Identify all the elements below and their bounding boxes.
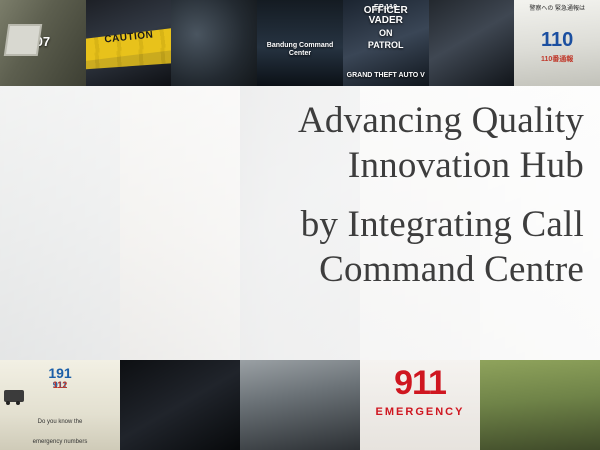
presentation-slide: 07 CAUTION Bandung Command Center EP.110… — [0, 0, 600, 450]
title-line-4: Command Centre — [164, 247, 584, 292]
title-spacer — [164, 188, 584, 202]
officer-vader-on-patrol-photo: EP.110 OFFICER VADER ON PATROL GRAND THE… — [343, 0, 429, 86]
title-band: Advancing Quality Innovation Hub by Inte… — [0, 86, 600, 360]
title-line-2: Innovation Hub — [164, 143, 584, 188]
episode-badge: EP.110 — [343, 4, 429, 11]
police-vehicle-street-photo — [429, 0, 515, 86]
emergency-number-191: 191 — [0, 366, 120, 380]
roadside-accident-photo: 07 — [0, 0, 86, 86]
911-emergency-graphic: 911 EMERGENCY — [360, 360, 480, 450]
photo-caption-gta: GRAND THEFT AUTO V — [343, 72, 429, 80]
title-line-3: by Integrating Call — [164, 202, 584, 247]
page-title: Advancing Quality Innovation Hub by Inte… — [164, 98, 584, 292]
photo-caption-question-2: emergency numbers — [0, 439, 120, 446]
bottom-photo-strip: 191 911 112 Do you know the emergency nu… — [0, 360, 600, 450]
brazil-emergency-numbers-photo: 191 911 112 Do you know the emergency nu… — [0, 360, 120, 450]
photo-caption-jp-sub: 110番通報 — [514, 54, 600, 64]
bandung-command-center-photo: Bandung Command Center — [257, 0, 343, 86]
emergency-number-911-large: 911 — [360, 366, 480, 400]
photo-caption-jp-top: 警察への 緊急通報は — [514, 6, 600, 13]
emergency-label: EMERGENCY — [360, 406, 480, 418]
japan-110-emergency-photo: 警察への 緊急通報は 110 110番通報 — [514, 0, 600, 86]
title-line-1: Advancing Quality — [164, 98, 584, 143]
photo-caption-vader: VADER — [343, 16, 429, 26]
photo-caption-07: 07 — [0, 34, 86, 49]
photo-caption-question-1: Do you know the — [0, 419, 120, 426]
ambulance-icon — [4, 390, 24, 402]
caution-tape-photo: CAUTION — [86, 0, 172, 86]
photo-caption-jp-number: 110 — [514, 30, 600, 50]
top-photo-strip: 07 CAUTION Bandung Command Center EP.110… — [0, 0, 600, 86]
burning-car-photo — [240, 360, 360, 450]
photo-caption-on: ON — [343, 28, 429, 38]
crash-debris-night-photo — [120, 360, 240, 450]
photo-caption-officer: OFFICER — [343, 6, 429, 16]
command-center-monitors-photo — [171, 0, 257, 86]
photo-caption-bandung: Bandung Command Center — [257, 42, 343, 58]
railway-accident-responders-photo — [480, 360, 600, 450]
emergency-number-112: 112 — [0, 380, 120, 390]
photo-caption-patrol: PATROL — [343, 40, 429, 50]
emergency-number-911: 911 — [0, 380, 120, 390]
